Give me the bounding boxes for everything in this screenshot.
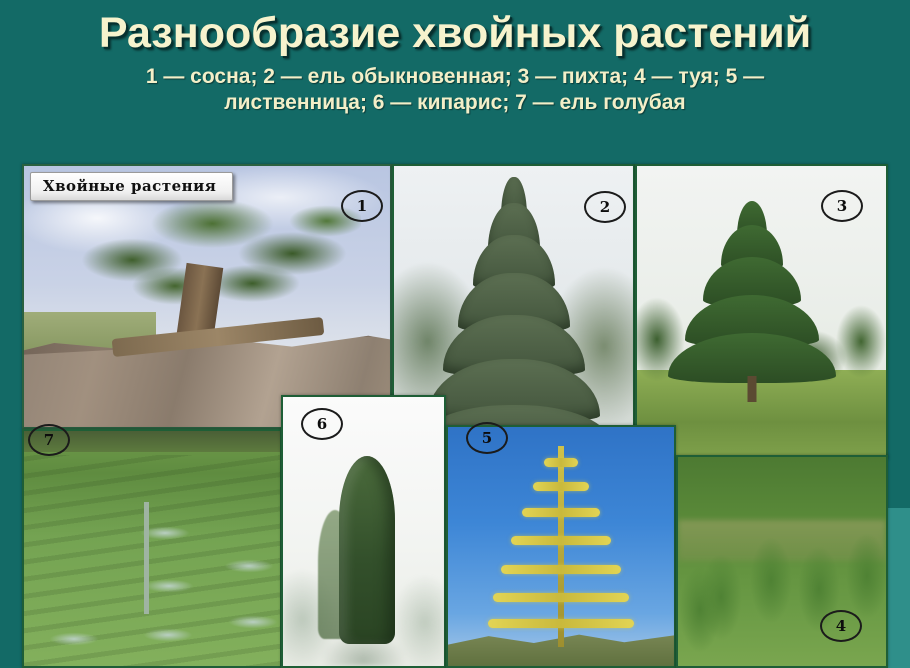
photo-panel-cypress[interactable] (281, 395, 446, 668)
number-badge-1: 1 (341, 190, 383, 222)
image-collage (22, 164, 888, 668)
sapling-stem (144, 502, 149, 615)
blue-spruce-sapling (39, 619, 109, 659)
page-title: Разнообразие хвойных растений (0, 6, 910, 60)
number-badge-2: 2 (584, 191, 626, 223)
fir-tree (662, 201, 842, 381)
slide-legend: 1 — сосна; 2 — ель обыкновенная; 3 — пих… (105, 64, 805, 116)
photo-panel-larch[interactable] (446, 425, 676, 668)
photo-panel-pine[interactable] (22, 164, 392, 429)
number-badge-3: 3 (821, 190, 863, 222)
number-badge-6: 6 (301, 408, 343, 440)
photo-panel-blue-spruce[interactable] (22, 429, 282, 668)
cypress-tree (339, 456, 395, 644)
collage-caption-badge: Хвойные растения (30, 172, 233, 201)
slide-canvas: Разнообразие хвойных растений 1 — сосна;… (0, 0, 910, 668)
number-badge-5: 5 (466, 422, 508, 454)
number-badge-4: 4 (820, 610, 862, 642)
fir-trunk (747, 376, 756, 402)
number-badge-7: 7 (28, 424, 70, 456)
blue-spruce-sapling (203, 596, 282, 648)
slide-header: Разнообразие хвойных растений 1 — сосна;… (0, 0, 910, 116)
blue-spruce-sapling (126, 511, 204, 555)
blue-spruce-sapling (211, 544, 282, 588)
larch-tree (486, 446, 636, 647)
larch-trunk (558, 446, 564, 647)
